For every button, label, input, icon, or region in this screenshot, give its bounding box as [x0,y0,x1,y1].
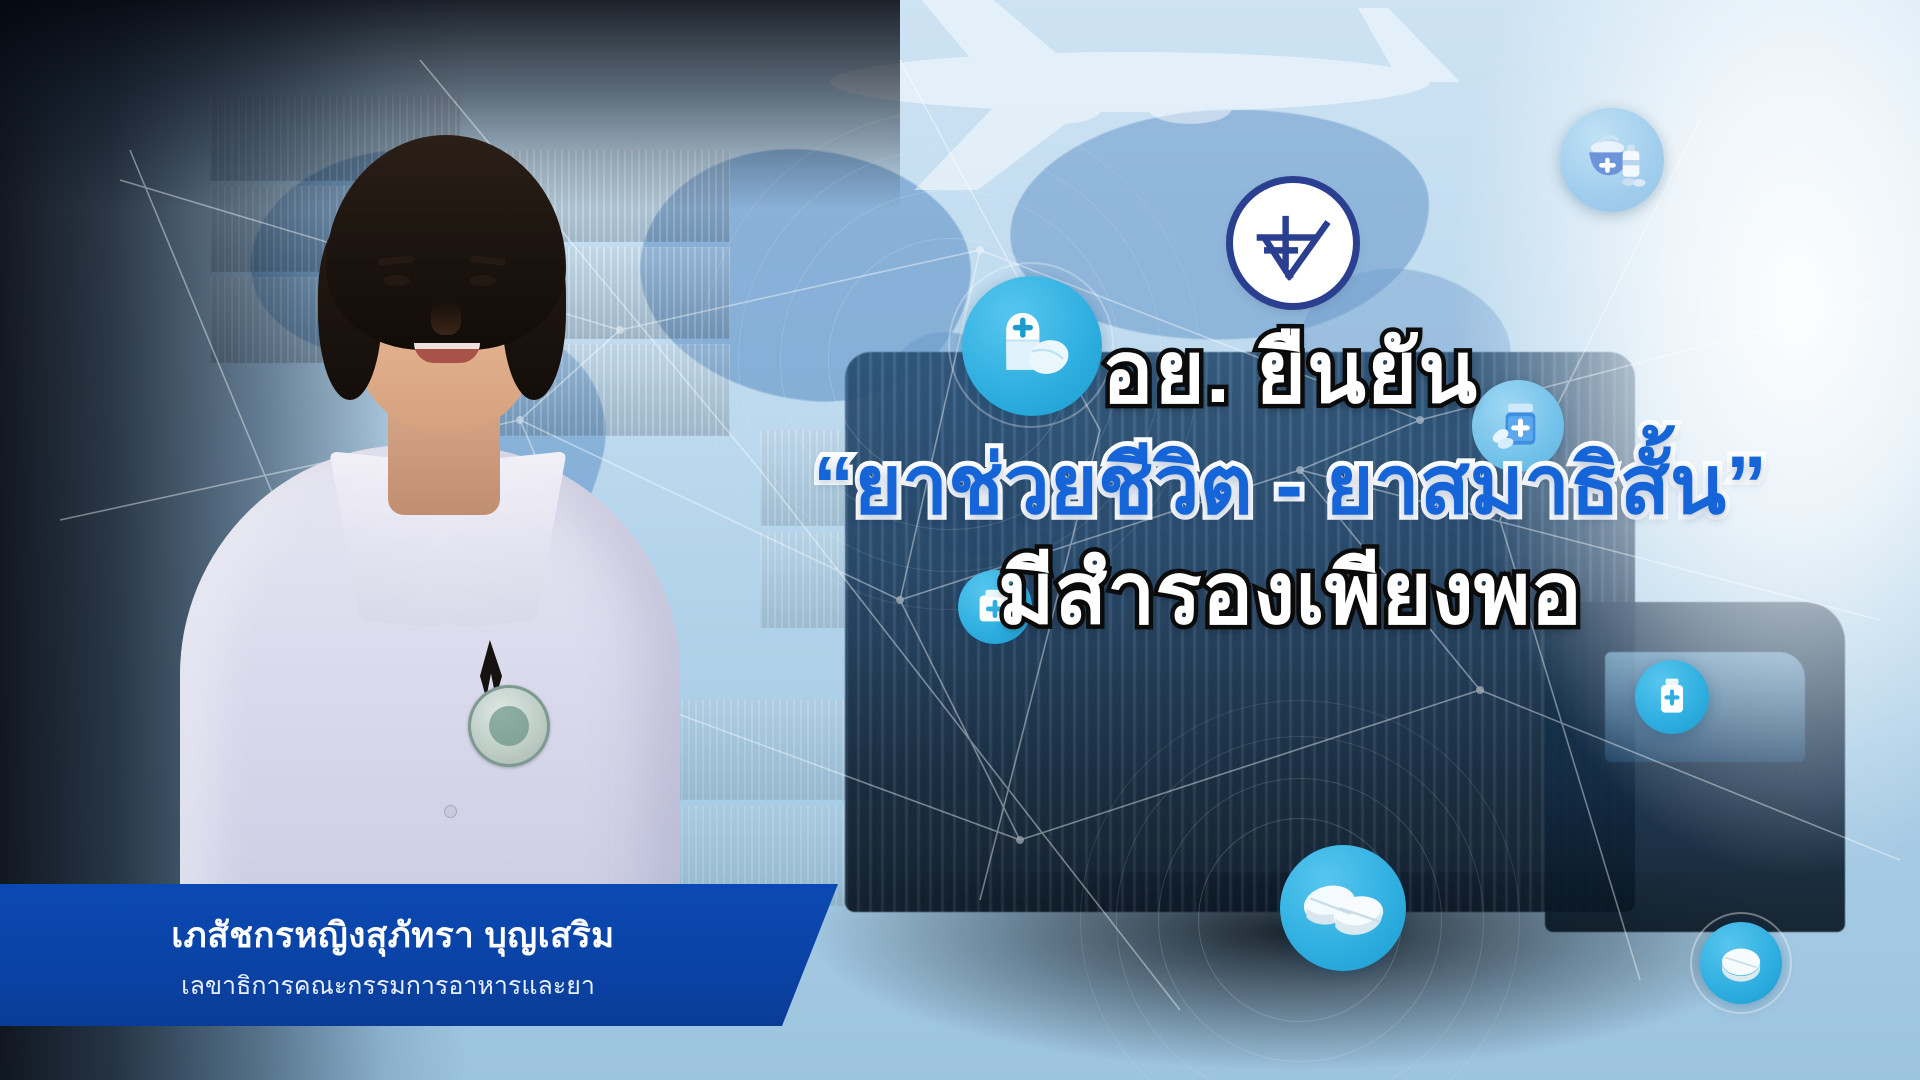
headline-block: อย. ยืนยัน “ยาช่วยชีวิต - ยาสมาธิสั้น” ม… [700,330,1880,639]
pharmacist-portrait [150,85,710,985]
banner-root: อย. ยืนยัน “ยาช่วยชีวิต - ยาสมาธิสั้น” ม… [0,0,1920,1080]
ministry-badge-icon [468,685,550,767]
single-tablet-icon [1700,922,1782,1004]
medicine-bottle-icon [1635,660,1709,734]
speaker-role: เลขาธิการคณะกรรมการอาหารและยา [0,966,776,1006]
tablets-icon [1280,845,1406,971]
headline-line-2: “ยาช่วยชีวิต - ยาสมาธิสั้น” [700,444,1880,528]
lower-third-name-bar: เภสัชกรหญิงสุภัทรา บุญเสริม เลขาธิการคณะ… [0,884,838,1026]
headline-line-3: มีสำรองเพียงพอ [700,551,1880,639]
mortar-bottle-icon [1560,108,1664,212]
headline-line-1: อย. ยืนยัน [700,330,1880,418]
thai-fda-logo [1233,183,1353,303]
speaker-name: เภสัชกรหญิงสุภัทรา บุญเสริม [0,908,786,963]
